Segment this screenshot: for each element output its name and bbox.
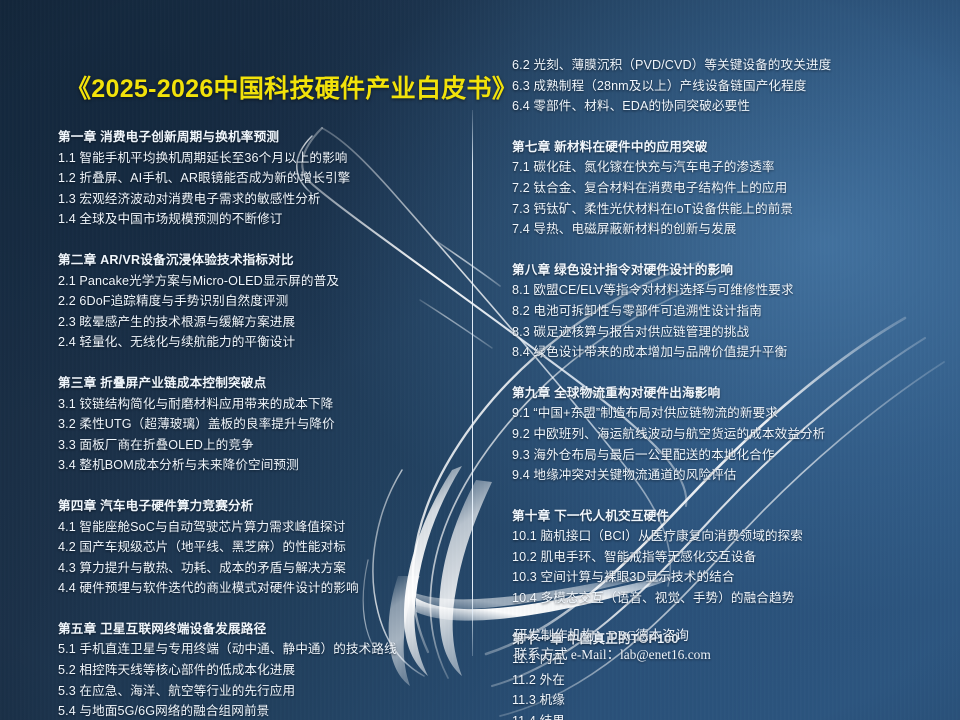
toc-section-item[interactable]: 3.4 整机BOM成本分析与未来降价空间预测 — [58, 455, 458, 476]
toc-chapter: 第五章 卫星互联网终端设备发展路径5.1 手机直连卫星与专用终端（动中通、静中通… — [58, 619, 458, 720]
toc-chapter-heading[interactable]: 第十章 下一代人机交互硬件 — [512, 506, 942, 527]
toc-section-item[interactable]: 9.4 地缘冲突对关键物流通道的风险评估 — [512, 465, 942, 486]
toc-chapter-heading[interactable]: 第七章 新材料在硬件中的应用突破 — [512, 137, 942, 158]
toc-section-item[interactable]: 2.4 轻量化、无线化与续航能力的平衡设计 — [58, 332, 458, 353]
toc-section-item[interactable]: 8.3 碳足迹核算与报告对供应链管理的挑战 — [512, 322, 942, 343]
slide-canvas: 《2025-2026中国科技硬件产业白皮书》 第一章 消费电子创新周期与换机率预… — [0, 0, 960, 720]
toc-section-item[interactable]: 3.2 柔性UTG（超薄玻璃）盖板的良率提升与降价 — [58, 414, 458, 435]
toc-section-item[interactable]: 1.4 全球及中国市场规模预测的不断修订 — [58, 209, 458, 230]
toc-section-item[interactable]: 1.3 宏观经济波动对消费电子需求的敏感性分析 — [58, 189, 458, 210]
toc-section-item[interactable]: 4.2 国产车规级芯片（地平线、黑芝麻）的性能对标 — [58, 537, 458, 558]
toc-section-item[interactable]: 4.4 硬件预埋与软件迭代的商业模式对硬件设计的影响 — [58, 578, 458, 599]
toc-section-item[interactable]: 10.2 肌电手环、智能戒指等无感化交互设备 — [512, 547, 942, 568]
toc-section-item[interactable]: 5.1 手机直连卫星与专用终端（动中通、静中通）的技术路线 — [58, 639, 458, 660]
toc-chapter: 第七章 新材料在硬件中的应用突破7.1 碳化硅、氮化镓在快充与汽车电子的渗透率7… — [512, 137, 942, 240]
toc-chapter-heading[interactable]: 第八章 绿色设计指令对硬件设计的影响 — [512, 260, 942, 281]
toc-section-item[interactable]: 1.2 折叠屏、AI手机、AR眼镜能否成为新的增长引擎 — [58, 168, 458, 189]
toc-section-item[interactable]: 8.1 欧盟CE/ELV等指令对材料选择与可维修性要求 — [512, 280, 942, 301]
toc-section-item[interactable]: 5.4 与地面5G/6G网络的融合组网前景 — [58, 701, 458, 720]
toc-left-column: 第一章 消费电子创新周期与换机率预测1.1 智能手机平均换机周期延长至36个月以… — [58, 127, 458, 720]
toc-chapter: 第四章 汽车电子硬件算力竞赛分析4.1 智能座舱SoC与自动驾驶芯片算力需求峰值… — [58, 496, 458, 599]
toc-section-item[interactable]: 2.3 眩晕感产生的技术根源与缓解方案进展 — [58, 312, 458, 333]
toc-continued-items: 6.2 光刻、薄膜沉积（PVD/CVD）等关键设备的攻关进度6.3 成熟制程（2… — [512, 55, 942, 117]
toc-section-item[interactable]: 9.2 中欧班列、海运航线波动与航空货运的成本效益分析 — [512, 424, 942, 445]
toc-chapter: 第十章 下一代人机交互硬件10.1 脑机接口（BCI）从医疗康复向消费领域的探索… — [512, 506, 942, 609]
toc-section-item[interactable]: 6.3 成熟制程（28nm及以上）产线设备链国产化程度 — [512, 76, 942, 97]
footer-block: 研发制作机构：DBC德本咨询 联系方式 e-Mail：lab@enet16.co… — [514, 626, 711, 664]
toc-section-item[interactable]: 2.1 Pancake光学方案与Micro-OLED显示屏的普及 — [58, 271, 458, 292]
toc-section-item[interactable]: 4.1 智能座舱SoC与自动驾驶芯片算力需求峰值探讨 — [58, 517, 458, 538]
toc-chapter-heading[interactable]: 第五章 卫星互联网终端设备发展路径 — [58, 619, 458, 640]
toc-section-item[interactable]: 5.3 在应急、海洋、航空等行业的先行应用 — [58, 681, 458, 702]
toc-chapter-heading[interactable]: 第一章 消费电子创新周期与换机率预测 — [58, 127, 458, 148]
footer-producer: 研发制作机构：DBC德本咨询 — [514, 626, 711, 645]
toc-chapter: 第二章 AR/VR设备沉浸体验技术指标对比2.1 Pancake光学方案与Mic… — [58, 250, 458, 353]
toc-chapter-heading[interactable]: 第四章 汽车电子硬件算力竞赛分析 — [58, 496, 458, 517]
toc-section-item[interactable]: 11.3 机缘 — [512, 690, 942, 711]
toc-section-item[interactable]: 11.2 外在 — [512, 670, 942, 691]
toc-section-item[interactable]: 7.4 导热、电磁屏蔽新材料的创新与发展 — [512, 219, 942, 240]
toc-section-item[interactable]: 11.4 结果 — [512, 711, 942, 720]
toc-chapter: 第八章 绿色设计指令对硬件设计的影响8.1 欧盟CE/ELV等指令对材料选择与可… — [512, 260, 942, 363]
toc-section-item[interactable]: 6.4 零部件、材料、EDA的协同突破必要性 — [512, 96, 942, 117]
toc-section-item[interactable]: 4.3 算力提升与散热、功耗、成本的矛盾与解决方案 — [58, 558, 458, 579]
column-divider — [472, 110, 473, 656]
toc-section-item[interactable]: 10.1 脑机接口（BCI）从医疗康复向消费领域的探索 — [512, 526, 942, 547]
toc-section-item[interactable]: 9.1 “中国+东盟”制造布局对供应链物流的新要求 — [512, 403, 942, 424]
toc-chapter: 第一章 消费电子创新周期与换机率预测1.1 智能手机平均换机周期延长至36个月以… — [58, 127, 458, 230]
toc-section-item[interactable]: 10.4 多模态交互（语音、视觉、手势）的融合趋势 — [512, 588, 942, 609]
toc-chapter-heading[interactable]: 第九章 全球物流重构对硬件出海影响 — [512, 383, 942, 404]
toc-section-item[interactable]: 9.3 海外仓布局与最后一公里配送的本地化合作 — [512, 445, 942, 466]
toc-chapter: 第三章 折叠屏产业链成本控制突破点3.1 铰链结构简化与耐磨材料应用带来的成本下… — [58, 373, 458, 476]
toc-section-item[interactable]: 3.3 面板厂商在折叠OLED上的竞争 — [58, 435, 458, 456]
page-title: 《2025-2026中国科技硬件产业白皮书》 — [66, 69, 517, 105]
toc-section-item[interactable]: 8.4 绿色设计带来的成本增加与品牌价值提升平衡 — [512, 342, 942, 363]
toc-section-item[interactable]: 2.2 6DoF追踪精度与手势识别自然度评测 — [58, 291, 458, 312]
toc-section-item[interactable]: 7.2 钛合金、复合材料在消费电子结构件上的应用 — [512, 178, 942, 199]
toc-chapter: 第九章 全球物流重构对硬件出海影响9.1 “中国+东盟”制造布局对供应链物流的新… — [512, 383, 942, 486]
toc-section-item[interactable]: 1.1 智能手机平均换机周期延长至36个月以上的影响 — [58, 148, 458, 169]
footer-contact: 联系方式 e-Mail：lab@enet16.com — [514, 645, 711, 664]
toc-section-item[interactable]: 7.3 钙钛矿、柔性光伏材料在IoT设备供能上的前景 — [512, 199, 942, 220]
toc-section-item[interactable]: 5.2 相控阵天线等核心部件的低成本化进展 — [58, 660, 458, 681]
toc-section-item[interactable]: 3.1 铰链结构简化与耐磨材料应用带来的成本下降 — [58, 394, 458, 415]
toc-chapter-heading[interactable]: 第三章 折叠屏产业链成本控制突破点 — [58, 373, 458, 394]
toc-section-item[interactable]: 8.2 电池可拆卸性与零部件可追溯性设计指南 — [512, 301, 942, 322]
toc-section-item[interactable]: 7.1 碳化硅、氮化镓在快充与汽车电子的渗透率 — [512, 157, 942, 178]
toc-section-item[interactable]: 10.3 空间计算与裸眼3D显示技术的结合 — [512, 567, 942, 588]
toc-right-column: 6.2 光刻、薄膜沉积（PVD/CVD）等关键设备的攻关进度6.3 成熟制程（2… — [512, 55, 942, 720]
toc-chapter-heading[interactable]: 第二章 AR/VR设备沉浸体验技术指标对比 — [58, 250, 458, 271]
toc-section-item[interactable]: 6.2 光刻、薄膜沉积（PVD/CVD）等关键设备的攻关进度 — [512, 55, 942, 76]
